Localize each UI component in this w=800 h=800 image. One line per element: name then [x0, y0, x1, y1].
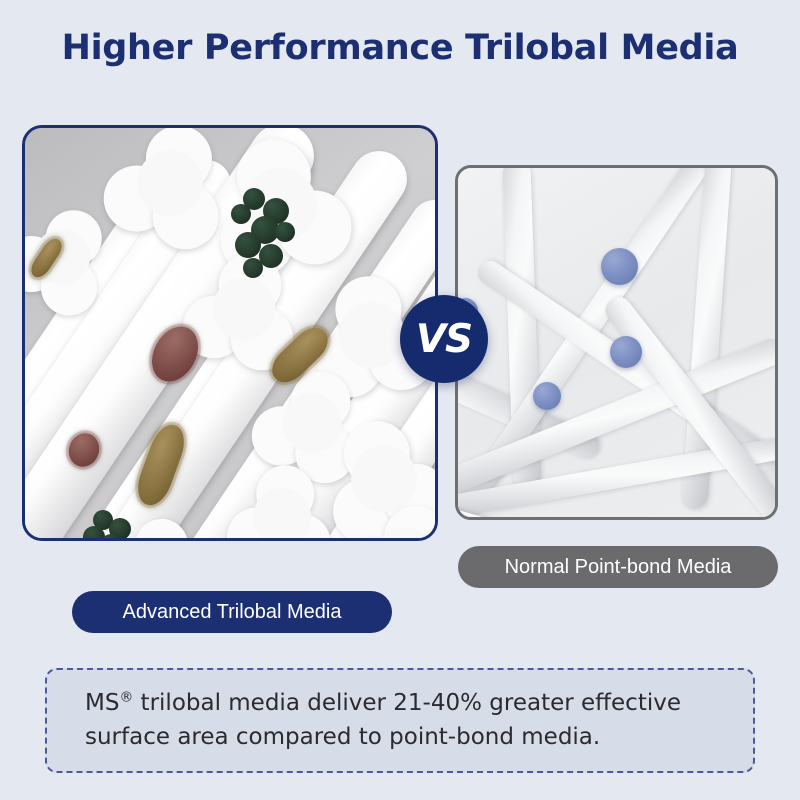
label-normal-point-bond-media[interactable]: Normal Point-bond Media	[458, 546, 778, 588]
panel-advanced-trilobal-media[interactable]	[22, 125, 438, 541]
label-normal-point-bond-media-text: Normal Point-bond Media	[505, 556, 732, 579]
page-title: Higher Performance Trilobal Media	[0, 28, 800, 68]
trilobal-fiber-illustration	[25, 128, 435, 538]
captured-microbe-colony	[225, 188, 305, 278]
particle	[601, 248, 638, 285]
panel-normal-point-bond-media[interactable]	[455, 165, 778, 520]
registered-trademark-icon: ®	[119, 690, 133, 706]
vs-badge-label: VS	[416, 317, 472, 362]
captured-microbe-colony	[83, 510, 139, 541]
caption-text: MS® trilobal media deliver 21-40% greate…	[85, 687, 715, 754]
point-bond-fiber-illustration	[458, 168, 775, 517]
label-advanced-trilobal-media-text: Advanced Trilobal Media	[122, 601, 341, 624]
caption-box: MS® trilobal media deliver 21-40% greate…	[45, 668, 755, 773]
vs-badge: VS	[400, 295, 488, 383]
caption-body: trilobal media deliver 21-40% greater ef…	[85, 690, 681, 749]
particle	[610, 336, 642, 368]
caption-brand: MS	[85, 690, 119, 716]
particle	[533, 382, 561, 410]
label-advanced-trilobal-media[interactable]: Advanced Trilobal Media	[72, 591, 392, 633]
trilobal-cross-section	[223, 458, 340, 541]
